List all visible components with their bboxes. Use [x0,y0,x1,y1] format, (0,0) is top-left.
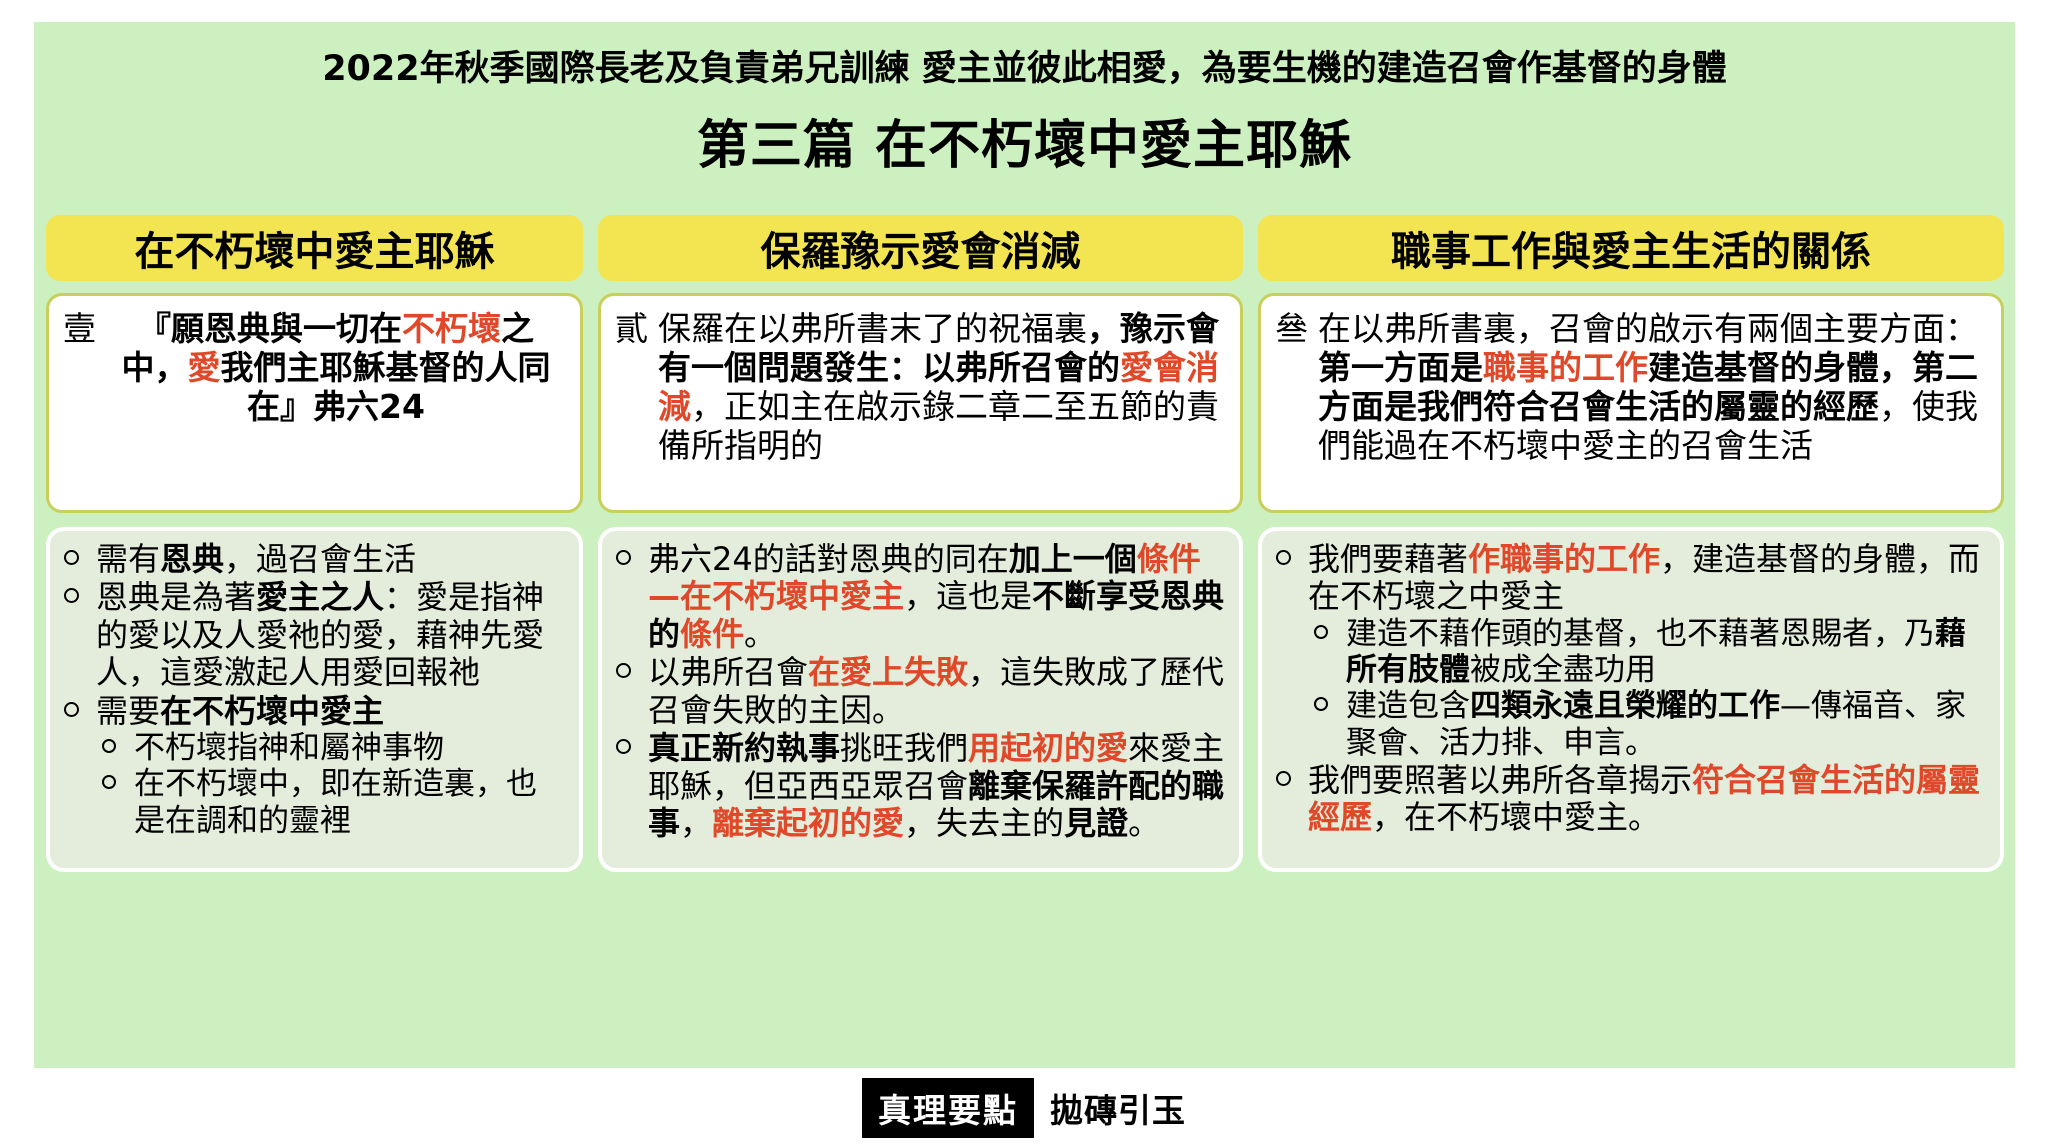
bullet-text: 在不朽壞中，即在新造裏，也是在調和的靈裡 [134,766,537,838]
text-run: 我們主耶穌基督的人同在』弗六24 [221,348,551,426]
column-3-bullets-box: 我們要藉著作職事的工作，建造基督的身體，而在不朽壞之中愛主建造不藉作頭的基督，也… [1258,527,2004,872]
bullet-text: 以弗所召會在愛上失敗，這失敗成了歷代召會失敗的主因。 [648,653,1224,728]
text-run: 在以弗所書裏，召會的啟示有兩個主要方面： [1318,309,1978,348]
column-2-point: 貳 保羅在以弗所書末了的祝福裏，豫示會有一個問題發生：以弗所召會的愛會消減，正如… [615,310,1226,466]
column-3-header: 職事工作與愛主生活的關係 [1258,215,2004,281]
column-1-header: 在不朽壞中愛主耶穌 [46,215,583,281]
footer-text: 拋磚引玉 [1050,1084,1186,1132]
bullet-text: 真正新約執事挑旺我們用起初的愛來愛主耶穌，但亞西亞眾召會離棄保羅許配的職事，離棄… [648,729,1224,842]
column-1: 在不朽壞中愛主耶穌 壹 『願恩典與一切在不朽壞之中，愛我們主耶穌基督的人同在』弗… [46,215,583,1055]
bullet-item: 弗六24的話對恩典的同在加上一個條件—在不朽壞中愛主，這也是不斷享受恩典的條件。 [614,541,1227,653]
bullet-item: 建造包含四類永遠且榮耀的工作—傳福音、家聚會、活力排、申言。 [1308,688,1988,761]
bullet-text: 建造包含四類永遠且榮耀的工作—傳福音、家聚會、活力排、申言。 [1346,688,1966,760]
text-run: 在愛上失敗 [808,653,968,691]
text-run: ， [680,804,712,842]
text-run: ，失去主的 [904,804,1064,842]
column-3-point-box: 叄 在以弗所書裏，召會的啟示有兩個主要方面：第一方面是職事的工作建造基督的身體，… [1258,293,2004,513]
text-run: 用起初的愛 [968,729,1128,767]
column-2-bullets-box: 弗六24的話對恩典的同在加上一個條件—在不朽壞中愛主，這也是不斷享受恩典的條件。… [598,527,1243,872]
text-run: 。 [744,615,776,653]
text-run: 『願恩典與一切在 [138,309,402,348]
bullet-item: 建造不藉作頭的基督，也不藉著恩賜者，乃藉所有肢體被成全盡功用 [1308,616,1988,689]
text-run: 愛 [188,348,221,387]
column-1-bullets-box: 需有恩典，過召會生活恩典是為著愛主之人：愛是指神的愛以及人愛祂的愛，藉神先愛人，… [46,527,583,872]
bullet-circle-icon [616,739,631,754]
bullet-circle-icon [616,550,631,565]
text-run: 愛主之人 [256,578,384,616]
text-run: 恩典 [160,540,224,578]
bullet-text: 需要在不朽壞中愛主 [96,692,384,730]
text-run: 加上一個 [1009,540,1137,578]
bullet-text: 我們要藉著作職事的工作，建造基督的身體，而在不朽壞之中愛主 [1308,540,1980,615]
bullet-item: 我們要藉著作職事的工作，建造基督的身體，而在不朽壞之中愛主建造不藉作頭的基督，也… [1274,541,1988,761]
bullet-circle-icon [64,588,79,603]
text-run: 需有 [96,540,160,578]
slide-subtitle: 2022年秋季國際長老及負責弟兄訓練 愛主並彼此相愛，為要生機的建造召會作基督的… [34,40,2015,91]
column-2-point-box: 貳 保羅在以弗所書末了的祝福裏，豫示會有一個問題發生：以弗所召會的愛會消減，正如… [598,293,1243,513]
text-run: ，過召會生活 [224,540,416,578]
text-run: 被成全盡功用 [1470,652,1656,688]
text-run: 我們要照著以弗所各章揭示 [1308,761,1692,799]
bullet-text: 我們要照著以弗所各章揭示符合召會生活的屬靈經歷，在不朽壞中愛主。 [1308,761,1980,836]
bullet-item: 我們要照著以弗所各章揭示符合召會生活的屬靈經歷，在不朽壞中愛主。 [1274,762,1988,837]
text-run: ，這也是 [904,577,1032,615]
text-run: ，在不朽壞中愛主。 [1372,798,1660,836]
bullet-circle-icon [64,702,79,717]
bullet-item: 需有恩典，過召會生活 [62,541,567,578]
text-run: 恩典是為著 [96,578,256,616]
text-run: 四類永遠且榮耀的工作 [1470,688,1780,724]
bullet-circle-icon [64,550,79,565]
slide-root: 2022年秋季國際長老及負責弟兄訓練 愛主並彼此相愛，為要生機的建造召會作基督的… [0,0,2048,1148]
slide-footer: 真理要點 拋磚引玉 [0,1078,2048,1138]
bullet-item: 不朽壞指神和屬神事物 [96,730,567,766]
column-3-bullet-list: 我們要藉著作職事的工作，建造基督的身體，而在不朽壞之中愛主建造不藉作頭的基督，也… [1274,541,1988,837]
text-run: 見證 [1064,804,1128,842]
text-run: 需要 [96,692,160,730]
columns-container: 在不朽壞中愛主耶穌 壹 『願恩典與一切在不朽壞之中，愛我們主耶穌基督的人同在』弗… [46,215,2004,1055]
text-run: 職事的工作 [1483,348,1648,387]
text-run: ，正如主在啟示錄二章二至五節的責備所指明的 [658,387,1219,465]
text-run: 建造包含 [1346,688,1470,724]
bullet-sublist: 不朽壞指神和屬神事物在不朽壞中，即在新造裏，也是在調和的靈裡 [96,730,567,839]
column-3-point-number: 叄 [1275,310,1318,349]
text-run: 以弗所召會 [648,653,808,691]
bullet-text: 恩典是為著愛主之人：愛是指神的愛以及人愛祂的愛，藉神先愛人，這愛激起人用愛回報祂 [96,578,544,691]
bullet-circle-icon [1314,697,1328,711]
text-run: 離棄起初的愛 [712,804,904,842]
bullet-circle-icon [102,739,116,753]
column-3-point-text: 在以弗所書裏，召會的啟示有兩個主要方面：第一方面是職事的工作建造基督的身體，第二… [1318,310,1987,466]
bullet-circle-icon [1314,625,1328,639]
slide-title: 第三篇 在不朽壞中愛主耶穌 [34,103,2015,178]
bullet-item: 需要在不朽壞中愛主不朽壞指神和屬神事物在不朽壞中，即在新造裏，也是在調和的靈裡 [62,693,567,839]
text-run: 挑旺我們 [840,729,968,767]
text-run: 條件 [680,615,744,653]
bullet-circle-icon [102,775,116,789]
bullet-circle-icon [1276,550,1291,565]
text-run: 第一方面是 [1318,348,1483,387]
bullet-item: 在不朽壞中，即在新造裏，也是在調和的靈裡 [96,766,567,839]
text-run: 作職事的工作 [1468,540,1660,578]
bullet-sublist: 建造不藉作頭的基督，也不藉著恩賜者，乃藉所有肢體被成全盡功用建造包含四類永遠且榮… [1308,616,1988,761]
bullet-circle-icon [1276,771,1291,786]
text-run: 真正新約執事 [648,729,840,767]
text-run: 在不朽壞中，即在新造裏，也是在調和的靈裡 [134,766,537,838]
column-2-bullet-list: 弗六24的話對恩典的同在加上一個條件—在不朽壞中愛主，這也是不斷享受恩典的條件。… [614,541,1227,843]
bullet-circle-icon [616,663,631,678]
text-run: 在不朽壞中愛主 [160,692,384,730]
column-1-point: 壹 『願恩典與一切在不朽壞之中，愛我們主耶穌基督的人同在』弗六24 [63,310,566,427]
column-1-point-number: 壹 [63,310,106,349]
text-run: 弗六24的話對恩典的同在 [648,540,1009,578]
text-run: 建造不藉作頭的基督，也不藉著恩賜者，乃 [1346,616,1935,652]
bullet-text: 不朽壞指神和屬神事物 [134,730,444,766]
column-1-point-text: 『願恩典與一切在不朽壞之中，愛我們主耶穌基督的人同在』弗六24 [106,310,566,427]
bullet-text: 弗六24的話對恩典的同在加上一個條件—在不朽壞中愛主，這也是不斷享受恩典的條件。 [648,540,1224,653]
column-3-point: 叄 在以弗所書裏，召會的啟示有兩個主要方面：第一方面是職事的工作建造基督的身體，… [1275,310,1987,466]
bullet-item: 真正新約執事挑旺我們用起初的愛來愛主耶穌，但亞西亞眾召會離棄保羅許配的職事，離棄… [614,730,1227,842]
column-2-header: 保羅豫示愛會消減 [598,215,1243,281]
bullet-text: 建造不藉作頭的基督，也不藉著恩賜者，乃藉所有肢體被成全盡功用 [1346,616,1966,688]
text-run: 保羅在以弗所書末了的祝福裏 [658,309,1087,348]
column-3: 職事工作與愛主生活的關係 叄 在以弗所書裏，召會的啟示有兩個主要方面：第一方面是… [1258,215,2004,1055]
column-2: 保羅豫示愛會消減 貳 保羅在以弗所書末了的祝福裏，豫示會有一個問題發生：以弗所召… [598,215,1243,1055]
text-run: 。 [1128,804,1160,842]
column-1-bullet-list: 需有恩典，過召會生活恩典是為著愛主之人：愛是指神的愛以及人愛祂的愛，藉神先愛人，… [62,541,567,839]
footer-badge: 真理要點 [862,1078,1034,1138]
text-run: 我們要藉著 [1308,540,1468,578]
text-run: 不朽壞 [402,309,501,348]
text-run: 不朽壞指神和屬神事物 [134,730,444,766]
bullet-item: 恩典是為著愛主之人：愛是指神的愛以及人愛祂的愛，藉神先愛人，這愛激起人用愛回報祂 [62,579,567,691]
column-2-point-number: 貳 [615,310,658,349]
bullet-text: 需有恩典，過召會生活 [96,540,416,578]
bullet-item: 以弗所召會在愛上失敗，這失敗成了歷代召會失敗的主因。 [614,654,1227,729]
column-1-point-box: 壹 『願恩典與一切在不朽壞之中，愛我們主耶穌基督的人同在』弗六24 [46,293,583,513]
column-2-point-text: 保羅在以弗所書末了的祝福裏，豫示會有一個問題發生：以弗所召會的愛會消減，正如主在… [658,310,1226,466]
